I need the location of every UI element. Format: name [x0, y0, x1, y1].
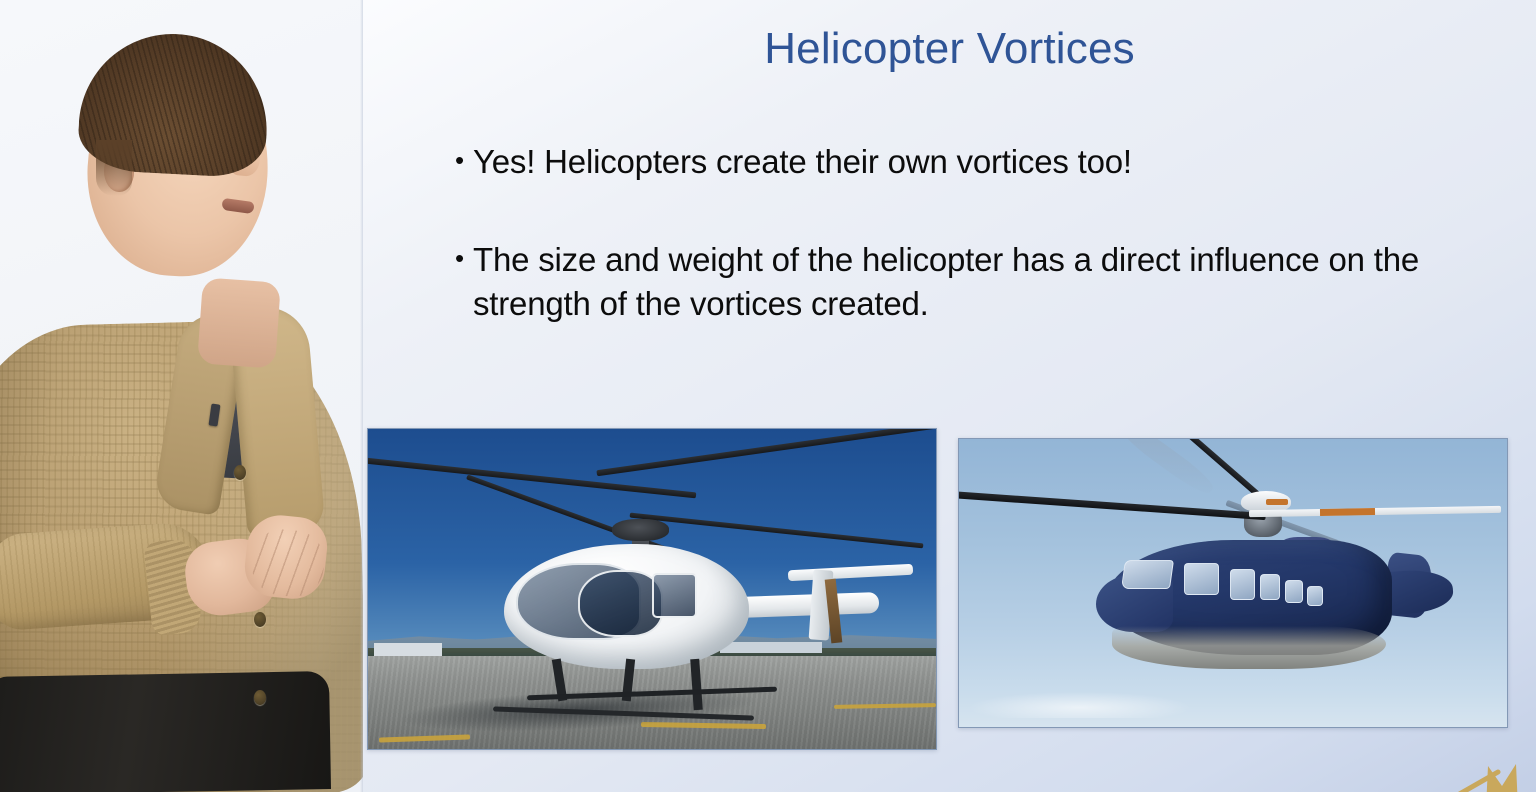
image-white-helicopter-on-tarmac: [367, 428, 937, 750]
corner-decoration-icon: [1402, 742, 1536, 792]
helicopter-cabin-window: [1307, 586, 1323, 606]
bullet-marker-icon: •: [455, 238, 473, 278]
presentation-slide: Helicopter Vortices • Yes! Helicopters c…: [363, 0, 1536, 792]
bullet-text: The size and weight of the helicopter ha…: [473, 238, 1445, 326]
rotor-dome-stripe: [1266, 499, 1288, 505]
helicopter-cabin-window: [1230, 569, 1255, 601]
image-blue-helicopter-in-flight: [958, 438, 1508, 728]
presenter-video-panel: [0, 0, 363, 792]
cardigan-button: [254, 612, 266, 627]
bullet-text: Yes! Helicopters create their own vortic…: [473, 140, 1445, 184]
video-lecture-frame: Helicopter Vortices • Yes! Helicopters c…: [0, 0, 1536, 792]
presenter-sideburn: [96, 140, 132, 196]
slide-bullet-list: • Yes! Helicopters create their own vort…: [455, 140, 1445, 327]
presenter-trousers: [0, 671, 331, 792]
helicopter-cabin-window: [1184, 563, 1220, 595]
rotor-hub: [612, 519, 669, 541]
helicopter-door-window: [652, 573, 697, 618]
presenter-neck: [197, 277, 281, 368]
rotor-blade-stripe: [1320, 508, 1376, 516]
presenter-figure: [0, 0, 363, 792]
helicopter-cabin-window: [1285, 580, 1303, 603]
helicopter-cockpit-window: [1121, 560, 1174, 589]
photo-cloud: [970, 692, 1189, 718]
photo-hangar: [720, 642, 822, 654]
cardigan-button: [254, 690, 266, 705]
bullet-item: • Yes! Helicopters create their own vort…: [455, 140, 1445, 184]
cardigan-button: [234, 465, 246, 480]
helicopter-windscreen: [578, 570, 663, 637]
slide-title: Helicopter Vortices: [363, 24, 1536, 74]
helicopter-cabin-window: [1260, 574, 1280, 600]
helicopter-underside: [1112, 626, 1386, 669]
bullet-item: • The size and weight of the helicopter …: [455, 238, 1445, 326]
bullet-marker-icon: •: [455, 140, 473, 180]
